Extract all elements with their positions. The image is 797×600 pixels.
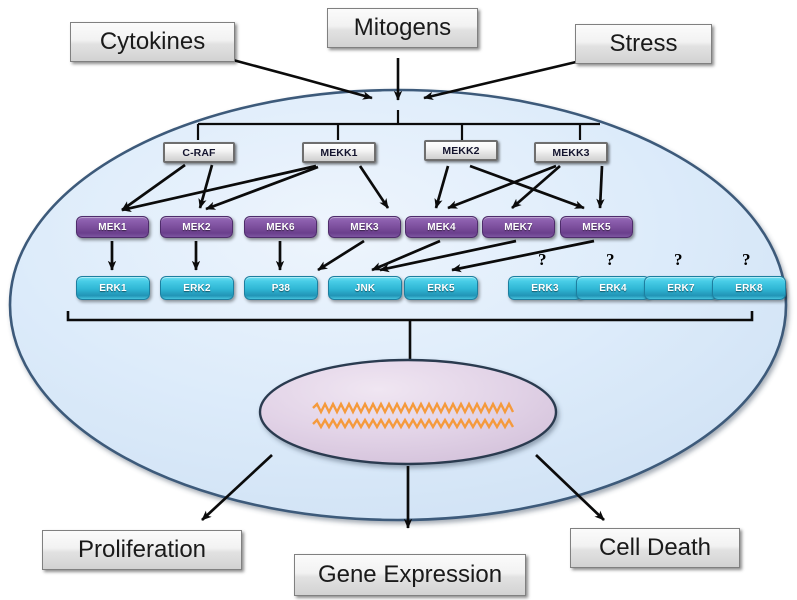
mek-label: MEK7 [504,222,533,233]
outcome-box-cell-death[interactable]: Cell Death [570,528,740,568]
erk-box-erk4[interactable]: ERK4 [576,276,650,300]
mek-label: MEK6 [266,222,295,233]
unknown-marker-erk8: ? [742,250,751,270]
mek-box-mek1[interactable]: MEK1 [76,216,149,238]
stimulus-box-stress[interactable]: Stress [575,24,712,64]
erk-box-erk8[interactable]: ERK8 [712,276,786,300]
stimulus-box-cytokines[interactable]: Cytokines [70,22,235,62]
mek-label: MEK2 [182,222,211,233]
outcome-box-proliferation[interactable]: Proliferation [42,530,242,570]
erk-label: ERK3 [531,283,558,294]
erk-box-erk1[interactable]: ERK1 [76,276,150,300]
mek-box-mek3[interactable]: MEK3 [328,216,401,238]
mekk-label: MEKK1 [320,147,357,159]
mekk-label: MEKK3 [552,147,589,159]
mek-box-mek5[interactable]: MEK5 [560,216,633,238]
mek-label: MEK3 [350,222,379,233]
pathway-diagram: Cytokines Mitogens Stress C-RAF MEKK1 ME… [0,0,797,600]
erk-label: ERK2 [183,283,210,294]
erk-label: ERK1 [99,283,126,294]
mekk-box-mekk2[interactable]: MEKK2 [424,140,498,161]
diagram-canvas [0,0,797,600]
erk-label: ERK8 [735,283,762,294]
erk-box-erk2[interactable]: ERK2 [160,276,234,300]
stimulus-box-mitogens[interactable]: Mitogens [327,8,478,48]
mek-box-mek6[interactable]: MEK6 [244,216,317,238]
erk-label: P38 [272,283,290,294]
erk-label: JNK [355,283,376,294]
mekk-box-mekk1[interactable]: MEKK1 [302,142,376,163]
mekk-box-mekk3[interactable]: MEKK3 [534,142,608,163]
mek-box-mek2[interactable]: MEK2 [160,216,233,238]
mekk-label: MEKK2 [442,145,479,157]
outcome-label: Proliferation [78,538,206,562]
erk-label: ERK7 [667,283,694,294]
outcome-label: Cell Death [599,536,711,560]
unknown-marker-erk3: ? [538,250,547,270]
erk-box-p38[interactable]: P38 [244,276,318,300]
mek-box-mek7[interactable]: MEK7 [482,216,555,238]
unknown-marker-erk7: ? [674,250,683,270]
erk-box-erk7[interactable]: ERK7 [644,276,718,300]
erk-label: ERK4 [599,283,626,294]
outcome-label: Gene Expression [318,563,502,587]
stimulus-label: Cytokines [100,30,205,54]
unknown-marker-erk4: ? [606,250,615,270]
outcome-box-gene-expression[interactable]: Gene Expression [294,554,526,596]
mek-box-mek4[interactable]: MEK4 [405,216,478,238]
erk-box-erk5[interactable]: ERK5 [404,276,478,300]
mek-label: MEK1 [98,222,127,233]
stimulus-label: Mitogens [354,16,451,40]
mekk-label: C-RAF [182,147,215,159]
stimulus-label: Stress [609,32,677,56]
mek-label: MEK4 [427,222,456,233]
mek-label: MEK5 [582,222,611,233]
erk-label: ERK5 [427,283,454,294]
mekk-box-c-raf[interactable]: C-RAF [163,142,235,163]
erk-box-jnk[interactable]: JNK [328,276,402,300]
erk-box-erk3[interactable]: ERK3 [508,276,582,300]
